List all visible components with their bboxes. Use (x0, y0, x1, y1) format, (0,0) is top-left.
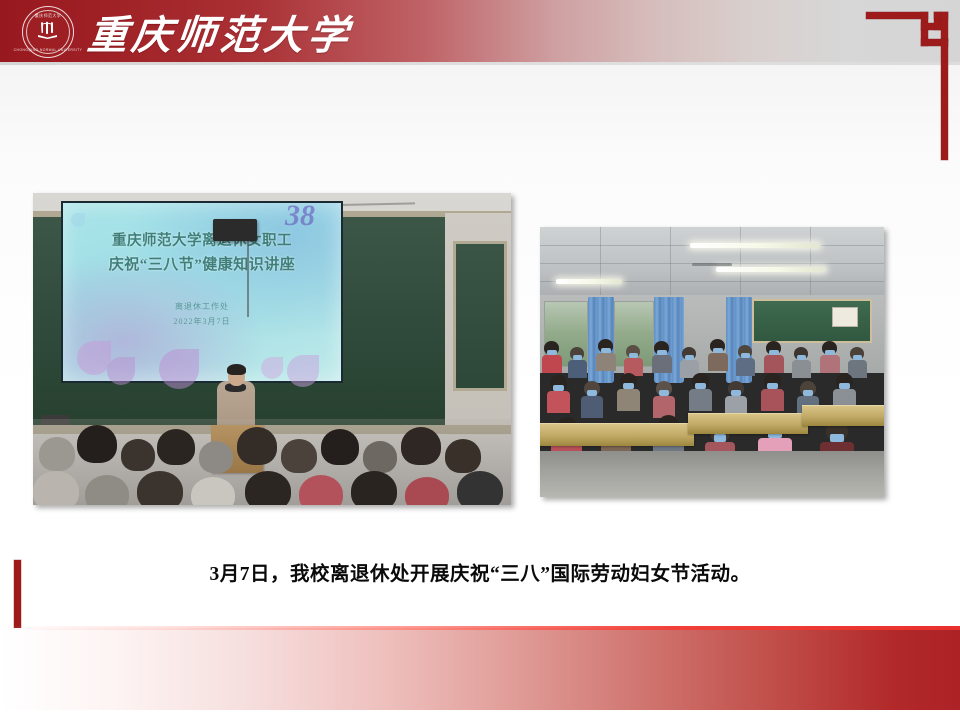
presentation-slide: 重庆师范大学 CHONGQING NORMAL UNIVERSITY 重庆师范大… (0, 0, 960, 720)
wall-speaker-icon (213, 219, 257, 241)
classroom-desk (540, 423, 694, 446)
wall-poster (832, 307, 858, 327)
screen-subtitle-line-2: 2022年3月7日 (63, 316, 341, 327)
ceiling-fan-icon (692, 263, 732, 266)
hanging-wire (247, 241, 249, 317)
classroom-floor (540, 451, 884, 497)
footer-band (0, 628, 960, 710)
seal-arc-top-text: 重庆师范大学 (35, 13, 61, 19)
page-title: 重庆师范大学 (85, 4, 355, 60)
ceiling-light-icon (716, 267, 826, 272)
ceiling-light-icon (690, 243, 820, 248)
seal-arc-bottom-text: CHONGQING NORMAL UNIVERSITY (14, 48, 83, 52)
hall-right-blackboard (453, 241, 507, 391)
screen-title-line-1: 重庆师范大学离退休女职工 (63, 229, 341, 250)
hall-audience (33, 419, 511, 505)
footer-bottom-edge (0, 710, 960, 720)
screen-title-line-2: 庆祝“三八节”健康知识讲座 (63, 253, 341, 274)
photo-lecture-hall: 38 重庆师范大学离退休女职工 庆祝“三八节”健康知识讲座 离退休工作处 202… (33, 193, 511, 505)
screen-subtitle-line-1: 离退休工作处 (63, 301, 341, 312)
header-underline (0, 62, 960, 65)
screen-badge-38: 38 (285, 199, 315, 233)
ceiling-light-icon (556, 279, 622, 284)
projection-screen: 38 重庆师范大学离退休女职工 庆祝“三八节”健康知识讲座 离退休工作处 202… (61, 201, 343, 383)
photo-classroom-audience (540, 227, 884, 497)
seal-monogram-icon (37, 21, 59, 39)
corner-ornament-top-right-icon (866, 12, 948, 160)
footer-accent-stripe (0, 626, 960, 630)
classroom-desk (688, 413, 808, 434)
speaker-hair (227, 364, 246, 375)
slide-caption: 3月7日，我校离退休处开展庆祝“三八”国际劳动妇女节活动。 (0, 560, 960, 590)
classroom-desk (802, 405, 884, 426)
university-seal-icon: 重庆师范大学 CHONGQING NORMAL UNIVERSITY (22, 6, 74, 58)
